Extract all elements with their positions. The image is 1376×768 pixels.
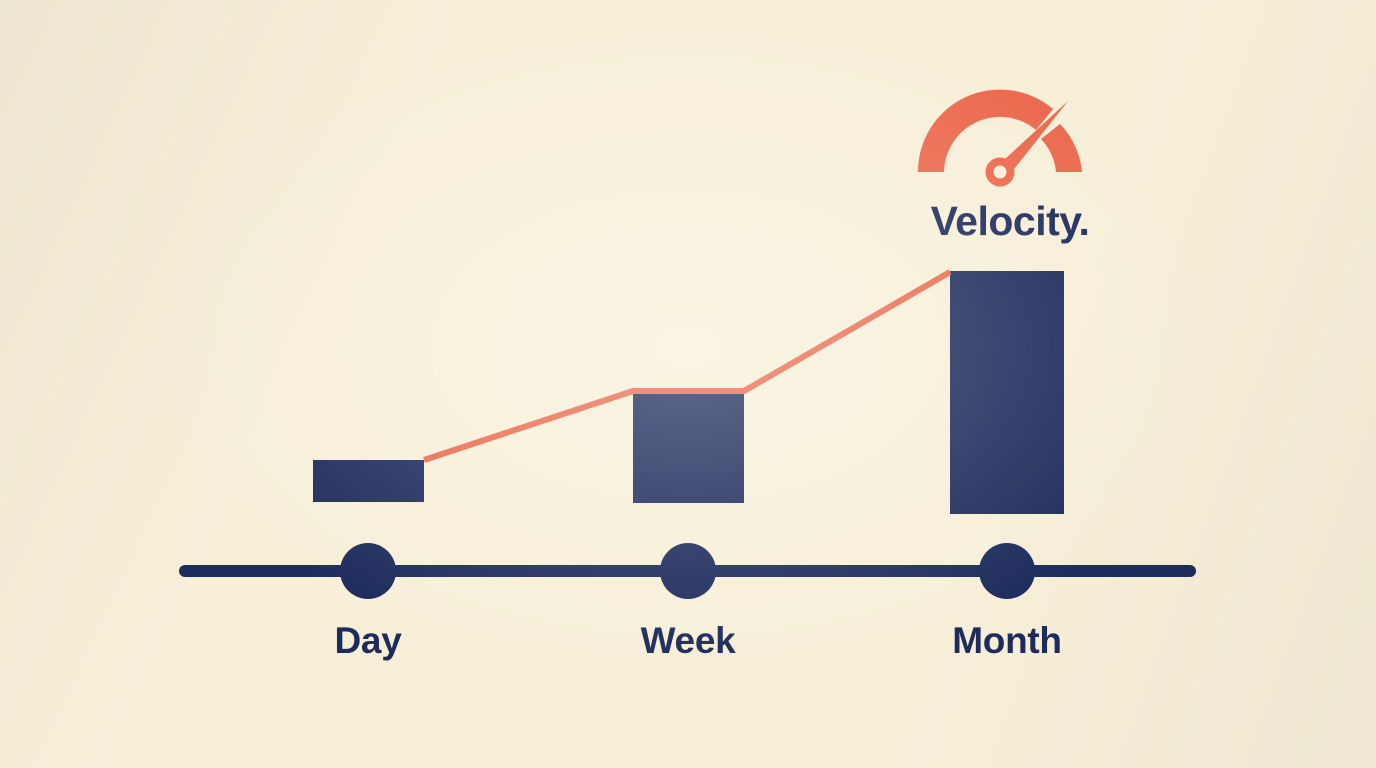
- bar-day[interactable]: [313, 460, 424, 502]
- axis-marker-day[interactable]: [340, 543, 396, 599]
- axis-marker-month[interactable]: [979, 543, 1035, 599]
- axis-marker-week[interactable]: [660, 543, 716, 599]
- chart-canvas: Velocity. Day Week Month: [0, 0, 1376, 768]
- timeline-axis: [185, 543, 1190, 599]
- axis-label-week: Week: [558, 620, 818, 662]
- bar-month[interactable]: [950, 271, 1064, 514]
- axis-label-month: Month: [877, 620, 1137, 662]
- speedometer-gauge-icon: [918, 90, 1082, 187]
- axis-label-day: Day: [238, 620, 498, 662]
- brand-wordmark: Velocity.: [860, 198, 1160, 245]
- bar-week[interactable]: [633, 391, 744, 503]
